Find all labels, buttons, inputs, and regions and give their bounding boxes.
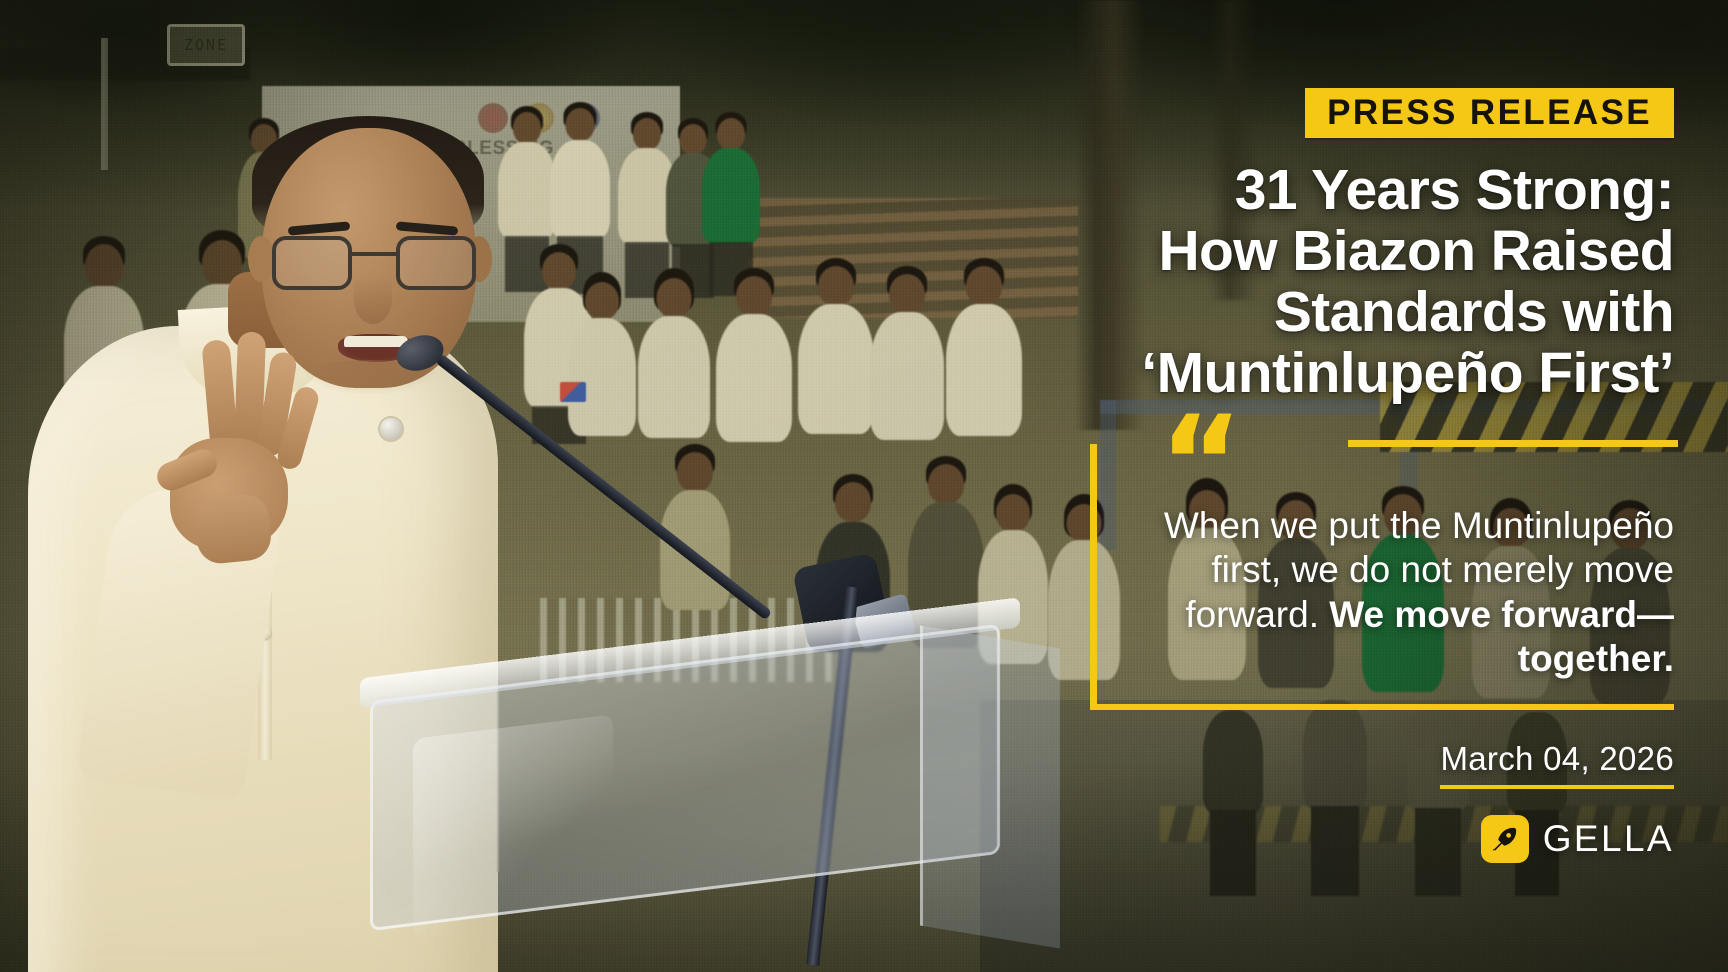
brand-name: GELLA [1543, 818, 1674, 860]
quote-mark-icon: “ [1159, 418, 1237, 510]
status-badge: PRESS RELEASE [1305, 88, 1674, 138]
ear-left [248, 236, 274, 282]
flag-pin [560, 382, 586, 402]
teeth [344, 336, 408, 347]
quote-top-rule [1348, 440, 1678, 447]
pen-nib-icon [1481, 815, 1529, 863]
lens-right [396, 236, 476, 290]
lapel-pin [380, 418, 402, 440]
wrist [193, 492, 273, 565]
nose [354, 276, 392, 324]
lectern-reflection [413, 714, 613, 939]
pull-quote: “ When we put the Muntinlupeño first, we… [1090, 444, 1674, 710]
quote-emphasis: We move forward—together. [1329, 594, 1674, 679]
date-wrapper: March 04, 2026 [972, 710, 1674, 789]
lens-left [272, 236, 352, 290]
glasses-bridge [352, 252, 396, 256]
brand-lockup: GELLA [972, 815, 1674, 863]
page-title: 31 Years Strong: How Biazon Raised Stand… [972, 160, 1674, 404]
publication-date: March 04, 2026 [1440, 740, 1674, 789]
press-release-content: PRESS RELEASE 31 Years Strong: How Biazo… [972, 88, 1674, 863]
press-release-poster: ZONE CEREMONY AND BLESSING [0, 0, 1728, 972]
